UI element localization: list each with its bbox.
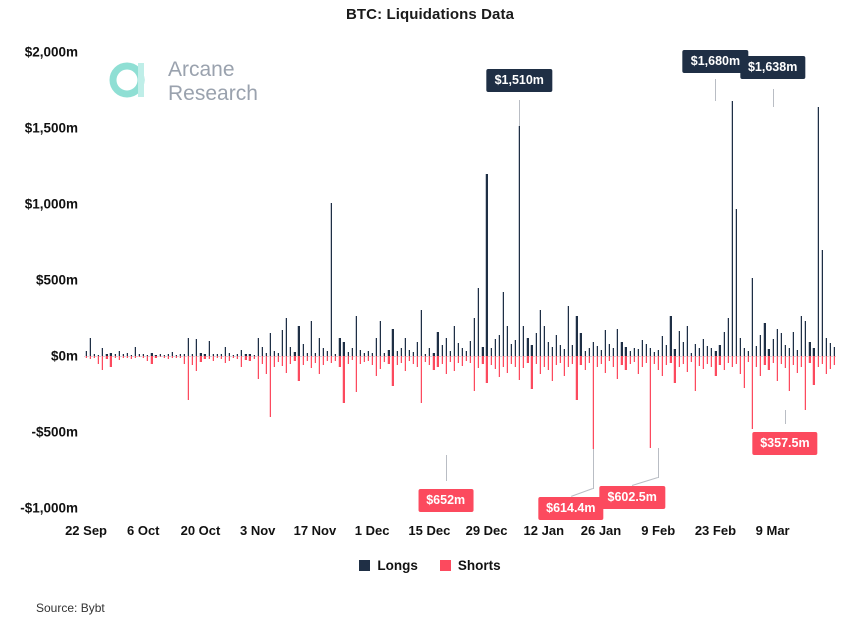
bar-longs <box>195 339 197 356</box>
bar-shorts <box>269 356 271 417</box>
bar-longs <box>710 348 712 356</box>
bar-longs <box>743 348 745 356</box>
legend-label: Longs <box>377 558 418 573</box>
bar-longs <box>575 316 577 356</box>
bar-longs <box>547 342 549 356</box>
bar-longs <box>555 335 557 356</box>
bar-shorts <box>477 356 479 368</box>
bar-shorts <box>453 356 455 371</box>
bar-shorts <box>759 356 761 376</box>
bar-longs <box>825 338 827 356</box>
annotation-leader-line <box>715 79 716 101</box>
bar-longs <box>767 349 769 356</box>
bar-shorts <box>494 356 496 369</box>
bar-longs <box>224 347 226 356</box>
bar-shorts <box>208 356 210 359</box>
bar-shorts <box>257 356 259 379</box>
bar-shorts <box>526 356 528 363</box>
bar-longs <box>297 326 299 356</box>
bar-shorts <box>669 356 671 363</box>
bar-longs <box>510 344 512 356</box>
x-axis-tick-label: 29 Dec <box>466 523 508 538</box>
legend-label: Shorts <box>458 558 501 573</box>
bar-longs <box>772 339 774 356</box>
bar-longs <box>755 346 757 356</box>
bar-shorts <box>686 356 688 372</box>
bar-shorts <box>739 356 741 374</box>
bar-shorts <box>772 356 774 363</box>
bar-longs <box>473 318 475 356</box>
bar-shorts <box>167 356 169 359</box>
bar-shorts <box>109 356 111 367</box>
bar-shorts <box>122 356 124 358</box>
bar-shorts <box>592 356 594 449</box>
bar-longs <box>469 341 471 356</box>
bar-shorts <box>105 356 107 359</box>
bar-shorts <box>101 356 103 370</box>
legend-item[interactable]: Longs <box>359 558 418 573</box>
bar-shorts <box>776 356 778 381</box>
bar-shorts <box>441 356 443 364</box>
source-note: Source: Bybt <box>36 601 105 615</box>
bar-shorts <box>481 356 483 364</box>
bar-longs <box>686 326 688 356</box>
bar-shorts <box>637 356 639 374</box>
bar-shorts <box>710 356 712 367</box>
bar-shorts <box>469 356 471 363</box>
bar-shorts <box>138 356 140 357</box>
x-axis-tick-label: 26 Jan <box>581 523 621 538</box>
bar-shorts <box>163 356 165 358</box>
bar-shorts <box>690 356 692 362</box>
bar-shorts <box>220 356 222 359</box>
bar-shorts <box>281 356 283 366</box>
bar-shorts <box>355 356 357 392</box>
bar-shorts <box>796 356 798 373</box>
bar-shorts <box>596 356 598 367</box>
bar-longs <box>526 338 528 356</box>
bar-shorts <box>755 356 757 367</box>
bar-longs <box>588 348 590 356</box>
bar-longs <box>302 344 304 356</box>
bar-shorts <box>359 356 361 364</box>
bar-longs <box>506 326 508 356</box>
bar-shorts <box>322 356 324 365</box>
bar-shorts <box>706 356 708 364</box>
bar-longs <box>441 345 443 356</box>
annotation-leader-line <box>632 477 658 486</box>
bar-longs <box>808 342 810 356</box>
bar-shorts <box>371 356 373 365</box>
bar-shorts <box>645 356 647 363</box>
bar-longs <box>477 288 479 356</box>
bar-longs <box>416 342 418 356</box>
bar-shorts <box>236 356 238 359</box>
bar-shorts <box>694 356 696 391</box>
bar-shorts <box>543 356 545 367</box>
bar-longs <box>355 316 357 356</box>
data-label-callout: $1,638m <box>740 56 805 79</box>
bar-longs <box>608 344 610 356</box>
annotation-leader-line <box>593 449 594 489</box>
x-axis-tick-label: 15 Dec <box>408 523 450 538</box>
bar-longs <box>698 348 700 356</box>
bar-shorts <box>559 356 561 363</box>
bar-longs <box>792 332 794 356</box>
bar-shorts <box>391 356 393 386</box>
bar-longs <box>682 342 684 356</box>
bar-shorts <box>612 356 614 367</box>
bar-shorts <box>817 356 819 367</box>
bar-longs <box>673 349 675 356</box>
bar-shorts <box>567 356 569 367</box>
bar-shorts <box>514 356 516 367</box>
bar-longs <box>445 338 447 356</box>
bar-longs <box>624 347 626 356</box>
bar-shorts <box>273 356 275 367</box>
bar-longs <box>351 348 353 356</box>
annotation-leader-line <box>570 488 592 497</box>
bar-shorts <box>808 356 810 363</box>
bar-longs <box>633 348 635 356</box>
bar-shorts <box>310 356 312 368</box>
chart-root: BTC: Liquidations Data Arcane Research $… <box>0 0 860 624</box>
annotation-leader-line <box>785 410 786 424</box>
bar-longs <box>485 174 487 356</box>
legend-swatch-icon <box>440 560 451 571</box>
bar-shorts <box>649 356 651 448</box>
bar-longs <box>436 332 438 356</box>
bar-shorts <box>588 356 590 363</box>
data-label-callout: $602.5m <box>600 486 665 509</box>
bar-shorts <box>780 356 782 364</box>
data-label-callout: $1,680m <box>683 50 748 73</box>
bar-shorts <box>727 356 729 363</box>
bar-shorts <box>432 356 434 370</box>
bar-shorts <box>784 356 786 368</box>
bar-shorts <box>85 356 87 358</box>
bar-shorts <box>171 356 173 358</box>
bar-shorts <box>714 356 716 376</box>
bar-longs <box>649 348 651 356</box>
bar-shorts <box>829 356 831 369</box>
bar-shorts <box>334 356 336 361</box>
bar-shorts <box>698 356 700 366</box>
x-axis-tick-label: 23 Feb <box>695 523 736 538</box>
bar-shorts <box>318 356 320 374</box>
bar-longs <box>404 338 406 356</box>
bar-longs <box>518 126 520 356</box>
bar-shorts <box>673 356 675 383</box>
bar-longs <box>833 347 835 356</box>
bar-longs <box>502 292 504 356</box>
bar-longs <box>596 346 598 356</box>
x-axis-tick-label: 9 Mar <box>756 523 790 538</box>
bar-shorts <box>424 356 426 362</box>
bar-shorts <box>633 356 635 362</box>
bar-shorts <box>404 356 406 371</box>
bar-longs <box>134 347 136 356</box>
bar-shorts <box>428 356 430 365</box>
bar-longs <box>318 338 320 356</box>
bar-shorts <box>510 356 512 364</box>
bar-shorts <box>555 356 557 365</box>
bar-shorts <box>150 356 152 364</box>
bar-shorts <box>216 356 218 358</box>
y-axis-tick-label: -$1,000m <box>20 501 78 516</box>
bar-shorts <box>306 356 308 361</box>
bar-longs <box>665 345 667 356</box>
bar-shorts <box>232 356 234 358</box>
bar-longs <box>706 346 708 356</box>
bar-longs <box>257 338 259 356</box>
bar-longs <box>731 101 733 356</box>
bar-shorts <box>506 356 508 373</box>
bar-shorts <box>379 356 381 369</box>
bar-longs <box>375 338 377 356</box>
bar-shorts <box>457 356 459 363</box>
bar-shorts <box>244 356 246 360</box>
x-axis: 22 Sep6 Oct20 Oct3 Nov17 Nov1 Dec15 Dec2… <box>0 523 860 545</box>
bar-longs <box>543 326 545 356</box>
bar-shorts <box>579 356 581 365</box>
bar-shorts <box>821 356 823 364</box>
bar-longs <box>481 347 483 356</box>
bar-longs <box>829 343 831 356</box>
bar-longs <box>535 333 537 356</box>
bar-shorts <box>265 356 267 374</box>
bar-longs <box>804 321 806 356</box>
bar-shorts <box>277 356 279 362</box>
bar-shorts <box>118 356 120 360</box>
bar-shorts <box>641 356 643 367</box>
bar-longs <box>379 321 381 356</box>
x-axis-tick-label: 12 Jan <box>524 523 564 538</box>
bar-longs <box>289 347 291 356</box>
bar-shorts <box>661 356 663 376</box>
bar-shorts <box>461 356 463 366</box>
plot-area: $1,510m$1,680m$1,638m$652m$614.4m$602.5m… <box>84 52 836 508</box>
annotation-leader-line <box>773 89 774 107</box>
bar-shorts <box>530 356 532 389</box>
bar-shorts <box>126 356 128 358</box>
y-axis-tick-label: $2,000m <box>25 45 78 60</box>
bar-shorts <box>179 356 181 358</box>
bar-shorts <box>518 356 520 380</box>
bar-shorts <box>804 356 806 410</box>
bar-longs <box>461 348 463 356</box>
bar-longs <box>551 347 553 356</box>
bar-shorts <box>408 356 410 361</box>
data-label-callout: $652m <box>418 489 473 512</box>
bar-longs <box>281 330 283 356</box>
bar-shorts <box>412 356 414 364</box>
bar-shorts <box>535 356 537 364</box>
bar-shorts <box>347 356 349 364</box>
bar-shorts <box>539 356 541 374</box>
bar-shorts <box>187 356 189 400</box>
bar-shorts <box>445 356 447 374</box>
x-axis-tick-label: 17 Nov <box>294 523 337 538</box>
bar-shorts <box>199 356 201 362</box>
bar-longs <box>530 345 532 356</box>
bar-longs <box>641 340 643 356</box>
x-axis-tick-label: 3 Nov <box>240 523 275 538</box>
bar-longs <box>620 342 622 356</box>
bar-shorts <box>159 356 161 357</box>
page-title: BTC: Liquidations Data <box>0 6 860 23</box>
bar-shorts <box>97 356 99 364</box>
bar-longs <box>400 348 402 356</box>
bar-longs <box>763 323 765 356</box>
bar-shorts <box>449 356 451 362</box>
bar-longs <box>735 209 737 356</box>
bar-longs <box>539 310 541 356</box>
bar-shorts <box>788 356 790 391</box>
bar-shorts <box>154 356 156 358</box>
y-axis-tick-label: $0m <box>51 349 78 364</box>
bar-shorts <box>396 356 398 365</box>
bar-shorts <box>400 356 402 363</box>
bar-longs <box>723 332 725 356</box>
bar-longs <box>784 345 786 356</box>
bar-shorts <box>629 356 631 364</box>
bar-shorts <box>763 356 765 365</box>
legend-item[interactable]: Shorts <box>440 558 501 573</box>
bar-shorts <box>195 356 197 371</box>
bar-shorts <box>624 356 626 370</box>
bar-shorts <box>261 356 263 364</box>
annotation-leader-line <box>446 455 447 481</box>
bar-longs <box>453 326 455 356</box>
bar-longs <box>702 339 704 356</box>
bar-longs <box>751 278 753 356</box>
bar-longs <box>579 333 581 356</box>
bar-shorts <box>678 356 680 367</box>
bar-shorts <box>134 356 136 358</box>
bar-shorts <box>723 356 725 370</box>
bar-shorts <box>289 356 291 364</box>
bar-longs <box>759 335 761 356</box>
bar-shorts <box>653 356 655 364</box>
bar-longs <box>559 345 561 356</box>
bar-longs <box>322 348 324 356</box>
bar-longs <box>89 338 91 356</box>
bar-shorts <box>314 356 316 363</box>
y-axis-tick-label: -$500m <box>31 425 78 440</box>
bar-shorts <box>367 356 369 361</box>
data-label-callout: $357.5m <box>752 432 817 455</box>
bar-longs <box>338 338 340 356</box>
bar-shorts <box>285 356 287 373</box>
bar-longs <box>645 344 647 356</box>
bar-longs <box>800 316 802 356</box>
bar-longs <box>812 348 814 356</box>
bar-shorts <box>363 356 365 362</box>
bar-shorts <box>792 356 794 365</box>
bar-longs <box>727 318 729 356</box>
bar-shorts <box>351 356 353 360</box>
bar-longs <box>678 331 680 356</box>
bar-shorts <box>743 356 745 388</box>
bar-longs <box>342 342 344 356</box>
bar-longs <box>514 340 516 356</box>
bar-shorts <box>420 356 422 403</box>
bar-longs <box>612 348 614 356</box>
bar-shorts <box>253 356 255 359</box>
bar-longs <box>457 343 459 356</box>
bar-longs <box>694 344 696 356</box>
bar-longs <box>788 348 790 356</box>
bar-shorts <box>767 356 769 370</box>
bar-shorts <box>146 356 148 361</box>
bar-shorts <box>114 356 116 358</box>
bar-shorts <box>825 356 827 374</box>
x-axis-tick-label: 22 Sep <box>65 523 107 538</box>
bar-shorts <box>751 356 753 429</box>
bar-longs <box>330 203 332 356</box>
bar-shorts <box>248 356 250 361</box>
bar-longs <box>310 321 312 356</box>
bar-longs <box>718 345 720 356</box>
bar-shorts <box>383 356 385 362</box>
bar-shorts <box>93 356 95 358</box>
bar-longs <box>661 336 663 356</box>
bar-longs <box>420 310 422 356</box>
legend: LongsShorts <box>0 558 860 573</box>
x-axis-tick-label: 9 Feb <box>641 523 675 538</box>
bar-shorts <box>833 356 835 365</box>
bar-shorts <box>175 356 177 358</box>
bar-shorts <box>375 356 377 376</box>
bar-longs <box>669 316 671 356</box>
bar-shorts <box>575 356 577 400</box>
bar-shorts <box>330 356 332 363</box>
bar-shorts <box>485 356 487 383</box>
bar-longs <box>563 349 565 356</box>
bar-shorts <box>338 356 340 367</box>
bar-shorts <box>224 356 226 363</box>
bar-shorts <box>142 356 144 358</box>
bar-shorts <box>735 356 737 364</box>
bar-shorts <box>183 356 185 364</box>
bar-longs <box>208 341 210 356</box>
bar-shorts <box>547 356 549 370</box>
bar-shorts <box>293 356 295 361</box>
bar-shorts <box>130 356 132 359</box>
x-axis-tick-label: 6 Oct <box>127 523 160 538</box>
bar-shorts <box>665 356 667 365</box>
bar-longs <box>571 345 573 356</box>
bar-shorts <box>228 356 230 361</box>
bar-shorts <box>326 356 328 361</box>
bar-longs <box>490 348 492 356</box>
bar-shorts <box>747 356 749 362</box>
bar-shorts <box>718 356 720 365</box>
bar-shorts <box>342 356 344 403</box>
bar-longs <box>269 333 271 356</box>
bar-longs <box>101 348 103 356</box>
bar-longs <box>567 306 569 356</box>
bar-shorts <box>702 356 704 369</box>
bar-shorts <box>522 356 524 368</box>
annotation-leader-line <box>519 100 520 126</box>
bar-shorts <box>436 356 438 367</box>
bar-shorts <box>465 356 467 361</box>
y-axis-tick-label: $1,000m <box>25 197 78 212</box>
bar-longs <box>498 335 500 356</box>
bar-shorts <box>563 356 565 376</box>
